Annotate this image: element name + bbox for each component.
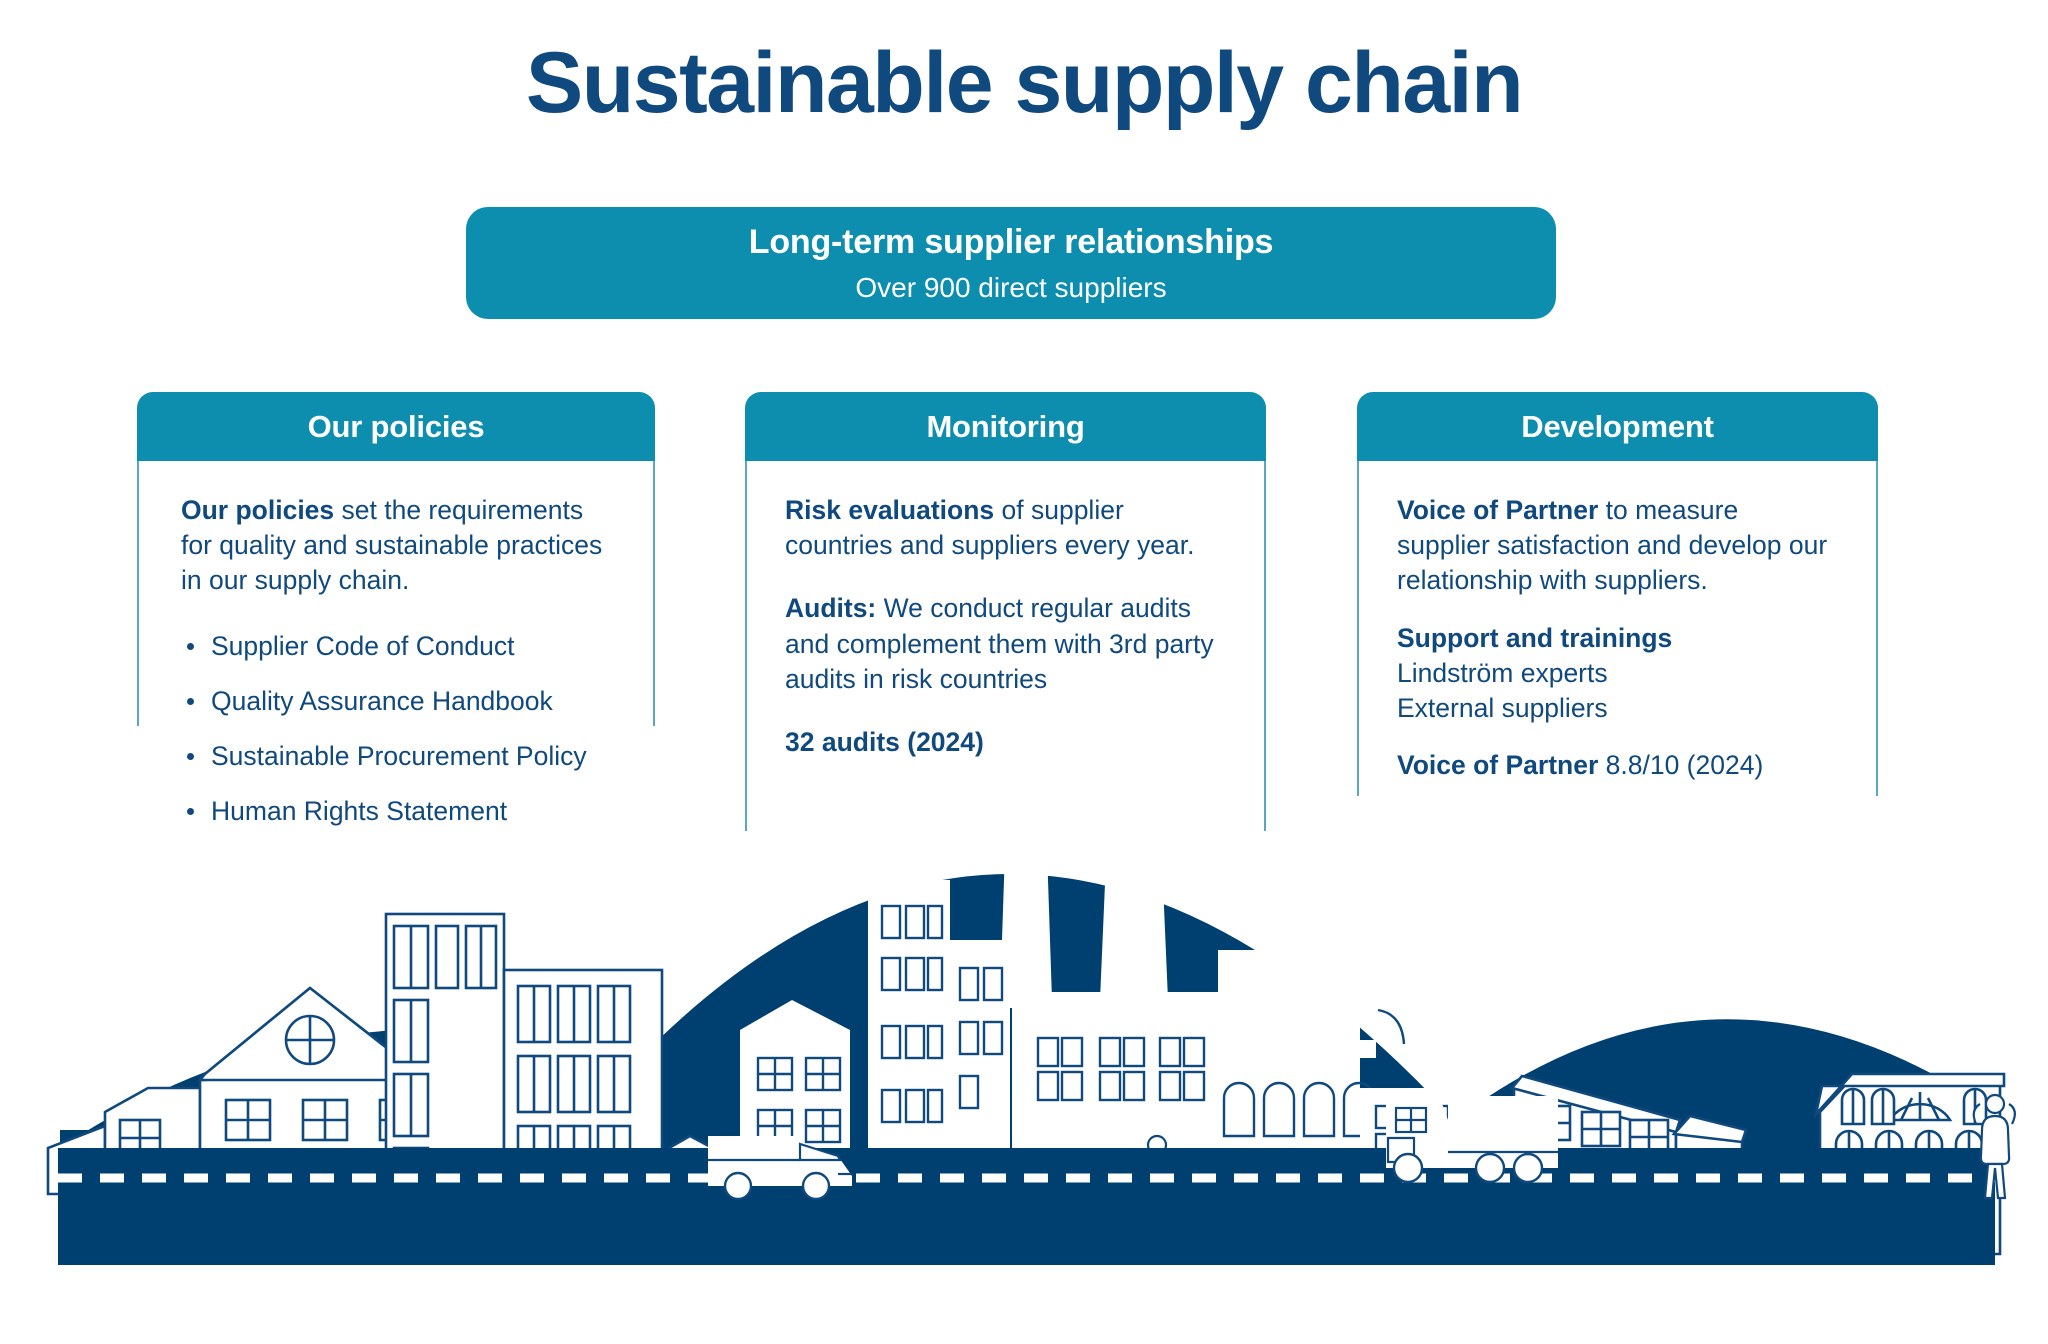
monitoring-audits: Audits: We conduct regular audits and co… bbox=[785, 591, 1224, 697]
card-header-our-policies: Our policies bbox=[137, 392, 655, 461]
banner-subtitle: Over 900 direct suppliers bbox=[855, 271, 1166, 305]
city-illustration bbox=[0, 700, 2048, 1344]
monitoring-risk-evaluations: Risk evaluations of supplier countries a… bbox=[785, 493, 1224, 563]
card-our-policies: Our policies Our policies set the requir… bbox=[137, 392, 655, 726]
card-header-monitoring: Monitoring bbox=[745, 392, 1266, 461]
development-support-line-1: Lindström experts bbox=[1397, 656, 1836, 691]
list-item: Supplier Code of Conduct bbox=[181, 629, 613, 664]
card-header-development: Development bbox=[1357, 392, 1878, 461]
our-policies-lead: Our policies set the requirements for qu… bbox=[181, 493, 613, 599]
monitoring-audits-bold: Audits: bbox=[785, 593, 876, 623]
smokestack-large bbox=[1100, 768, 1168, 1000]
development-voice-of-partner-bold: Voice of Partner bbox=[1397, 495, 1598, 525]
development-support-heading: Support and trainings bbox=[1397, 621, 1836, 656]
development-support-heading-bold: Support and trainings bbox=[1397, 623, 1672, 653]
infographic-root: Sustainable supply chain Long-term suppl… bbox=[0, 0, 2048, 1344]
card-body-our-policies: Our policies set the requirements for qu… bbox=[137, 461, 655, 726]
spacer bbox=[785, 563, 1224, 591]
banner-title: Long-term supplier relationships bbox=[749, 222, 1273, 263]
page-title: Sustainable supply chain bbox=[0, 38, 2048, 128]
road bbox=[58, 1148, 1995, 1265]
monitoring-risk-evaluations-bold: Risk evaluations bbox=[785, 495, 994, 525]
banner-long-term-supplier-relationships: Long-term supplier relationships Over 90… bbox=[466, 207, 1556, 319]
city-illustration-svg bbox=[0, 700, 2048, 1344]
spacer bbox=[1397, 599, 1836, 621]
our-policies-lead-bold: Our policies bbox=[181, 495, 334, 525]
development-voice-of-partner: Voice of Partner to measure supplier sat… bbox=[1397, 493, 1836, 599]
